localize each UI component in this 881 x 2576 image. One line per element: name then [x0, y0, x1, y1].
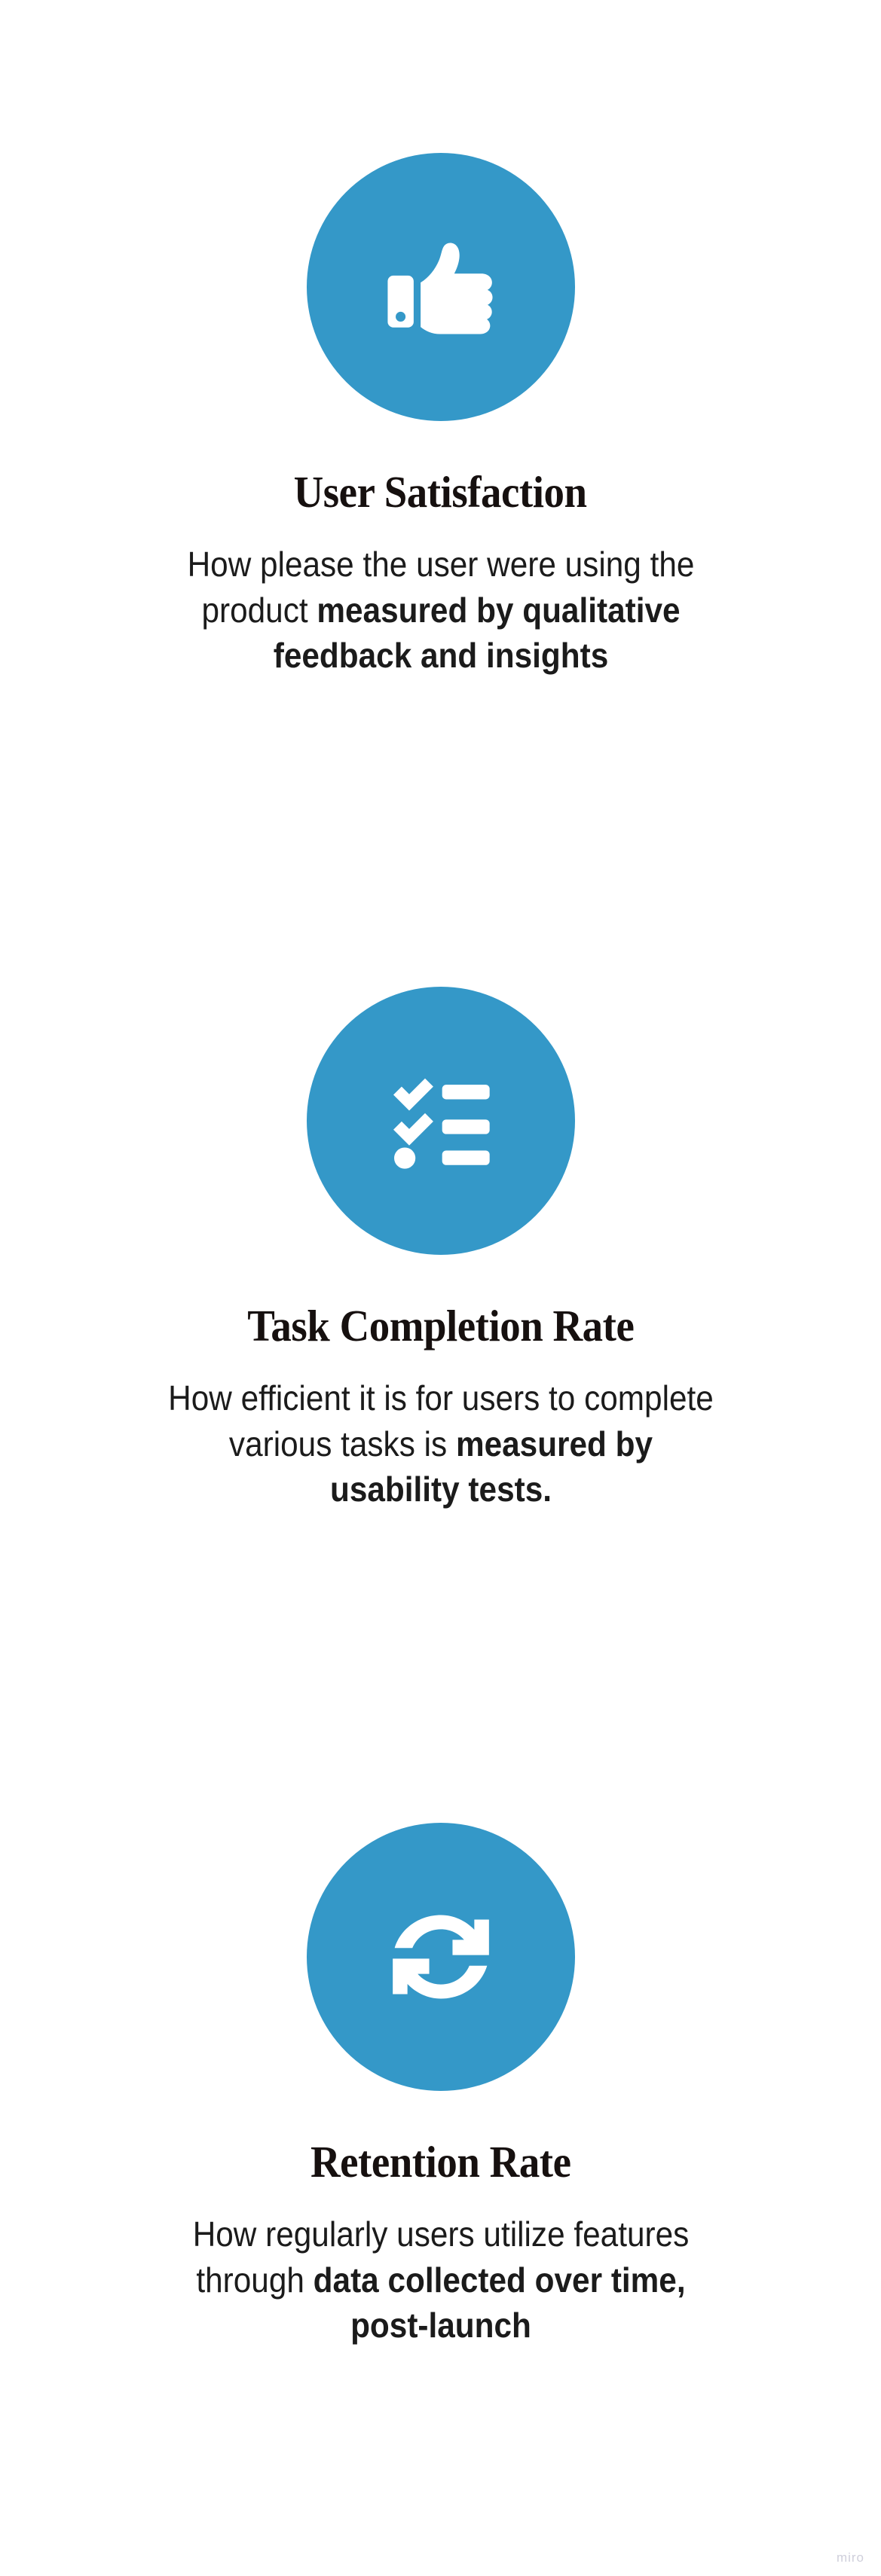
card-description: How efficient it is for users to complet…	[164, 1375, 718, 1512]
checklist-icon	[378, 1058, 504, 1184]
card-title: User Satisfaction	[294, 469, 587, 516]
checklist-icon-badge[interactable]	[307, 987, 575, 1255]
card-title: Retention Rate	[310, 2139, 571, 2186]
card-description-bold: data collected over time, post-launch	[313, 2260, 685, 2346]
thumbs-up-icon	[378, 224, 504, 350]
thumbs-up-icon-badge[interactable]	[307, 153, 575, 421]
card-title: Task Completion Rate	[247, 1303, 634, 1350]
card-user-satisfaction[interactable]: User Satisfaction How please the user we…	[0, 153, 881, 679]
card-retention-rate[interactable]: Retention Rate How regularly users utili…	[0, 1823, 881, 2349]
refresh-sync-icon	[378, 1894, 504, 2020]
miro-watermark: miro	[837, 2550, 864, 2565]
card-description-bold: measured by qualitative feedback and ins…	[273, 591, 680, 676]
infographic-board: User Satisfaction How please the user we…	[0, 0, 881, 2576]
card-description: How please the user were using the produ…	[164, 542, 718, 679]
refresh-sync-icon-badge[interactable]	[307, 1823, 575, 2091]
card-description: How regularly users utilize features thr…	[164, 2211, 718, 2349]
card-task-completion[interactable]: Task Completion Rate How efficient it is…	[0, 987, 881, 1512]
